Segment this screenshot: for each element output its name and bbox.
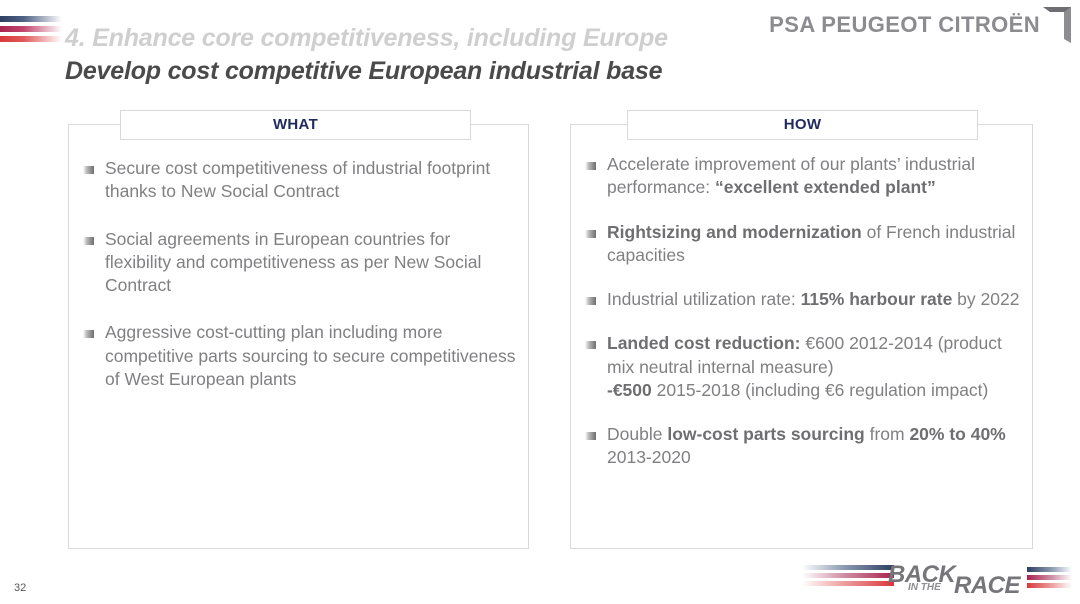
bullet-item: Social agreements in European countries … xyxy=(83,228,516,298)
psa-logo-text: PSA PEUGEOT CITROËN xyxy=(769,14,1040,36)
citroen-chevron-mark-icon xyxy=(1042,6,1072,44)
bullet-item: Aggressive cost-cutting plan including m… xyxy=(83,321,516,391)
bir-stripe-blue-left xyxy=(802,565,894,570)
bir-right-stripes xyxy=(1027,567,1072,595)
panel-what: Secure cost competitiveness of industria… xyxy=(68,124,529,549)
how-bullet-list: Accelerate improvement of our plants’ in… xyxy=(585,153,1024,491)
header-stripe-decoration xyxy=(0,16,62,46)
bir-word-race: RACE xyxy=(954,574,1020,598)
bir-stripe-magenta-left xyxy=(802,573,894,578)
panel-header-how: HOW xyxy=(627,110,978,140)
bullet-text: Industrial utilization rate: 115% harbou… xyxy=(607,288,1019,311)
bullet-marker-icon xyxy=(585,341,596,349)
bullet-text: Rightsizing and modernization of French … xyxy=(607,221,1024,268)
panel-how: Accelerate improvement of our plants’ in… xyxy=(570,124,1033,549)
back-in-the-race-logo: BACK IN THE RACE xyxy=(802,562,1072,600)
slide-title: 4. Enhance core competitiveness, includi… xyxy=(65,24,668,53)
slide-subtitle: Develop cost competitive European indust… xyxy=(65,57,662,86)
bir-stripe-blue-right xyxy=(1027,567,1072,572)
bullet-item: Double low-cost parts sourcing from 20% … xyxy=(585,423,1024,470)
bullet-text: Social agreements in European countries … xyxy=(105,228,516,298)
bullet-item: Accelerate improvement of our plants’ in… xyxy=(585,153,1024,200)
bullet-marker-icon xyxy=(585,297,596,305)
bullet-item: Secure cost competitiveness of industria… xyxy=(83,157,516,204)
bullet-marker-icon xyxy=(585,162,596,170)
bullet-item: Rightsizing and modernization of French … xyxy=(585,221,1024,268)
bullet-marker-icon xyxy=(83,166,94,174)
page-number: 32 xyxy=(14,582,26,594)
bullet-item: Industrial utilization rate: 115% harbou… xyxy=(585,288,1024,311)
bullet-marker-icon xyxy=(83,237,94,245)
bullet-marker-icon xyxy=(585,230,596,238)
psa-peugeot-citroen-logo: PSA PEUGEOT CITROËN xyxy=(769,7,1072,43)
bir-left-stripes xyxy=(802,565,894,595)
bullet-marker-icon xyxy=(83,330,94,338)
bir-stripe-magenta-right xyxy=(1027,575,1072,580)
bullet-item: Landed cost reduction: €600 2012-2014 (p… xyxy=(585,332,1024,402)
bir-word-inthe: IN THE xyxy=(908,583,941,593)
bir-stripe-red-right xyxy=(1027,583,1072,588)
bir-wordmark: BACK IN THE RACE xyxy=(888,562,1028,600)
stripe-red xyxy=(0,36,62,42)
bullet-text: Accelerate improvement of our plants’ in… xyxy=(607,153,1024,200)
what-bullet-list: Secure cost competitiveness of industria… xyxy=(83,157,516,415)
bullet-text: Double low-cost parts sourcing from 20% … xyxy=(607,423,1024,470)
panel-header-what: WHAT xyxy=(120,110,471,140)
stripe-magenta xyxy=(0,26,62,32)
bullet-marker-icon xyxy=(585,432,596,440)
stripe-blue xyxy=(0,16,62,22)
bullet-text: Secure cost competitiveness of industria… xyxy=(105,157,516,204)
bir-stripe-red-left xyxy=(802,581,894,586)
bullet-text: Landed cost reduction: €600 2012-2014 (p… xyxy=(607,332,1024,402)
bullet-text: Aggressive cost-cutting plan including m… xyxy=(105,321,516,391)
